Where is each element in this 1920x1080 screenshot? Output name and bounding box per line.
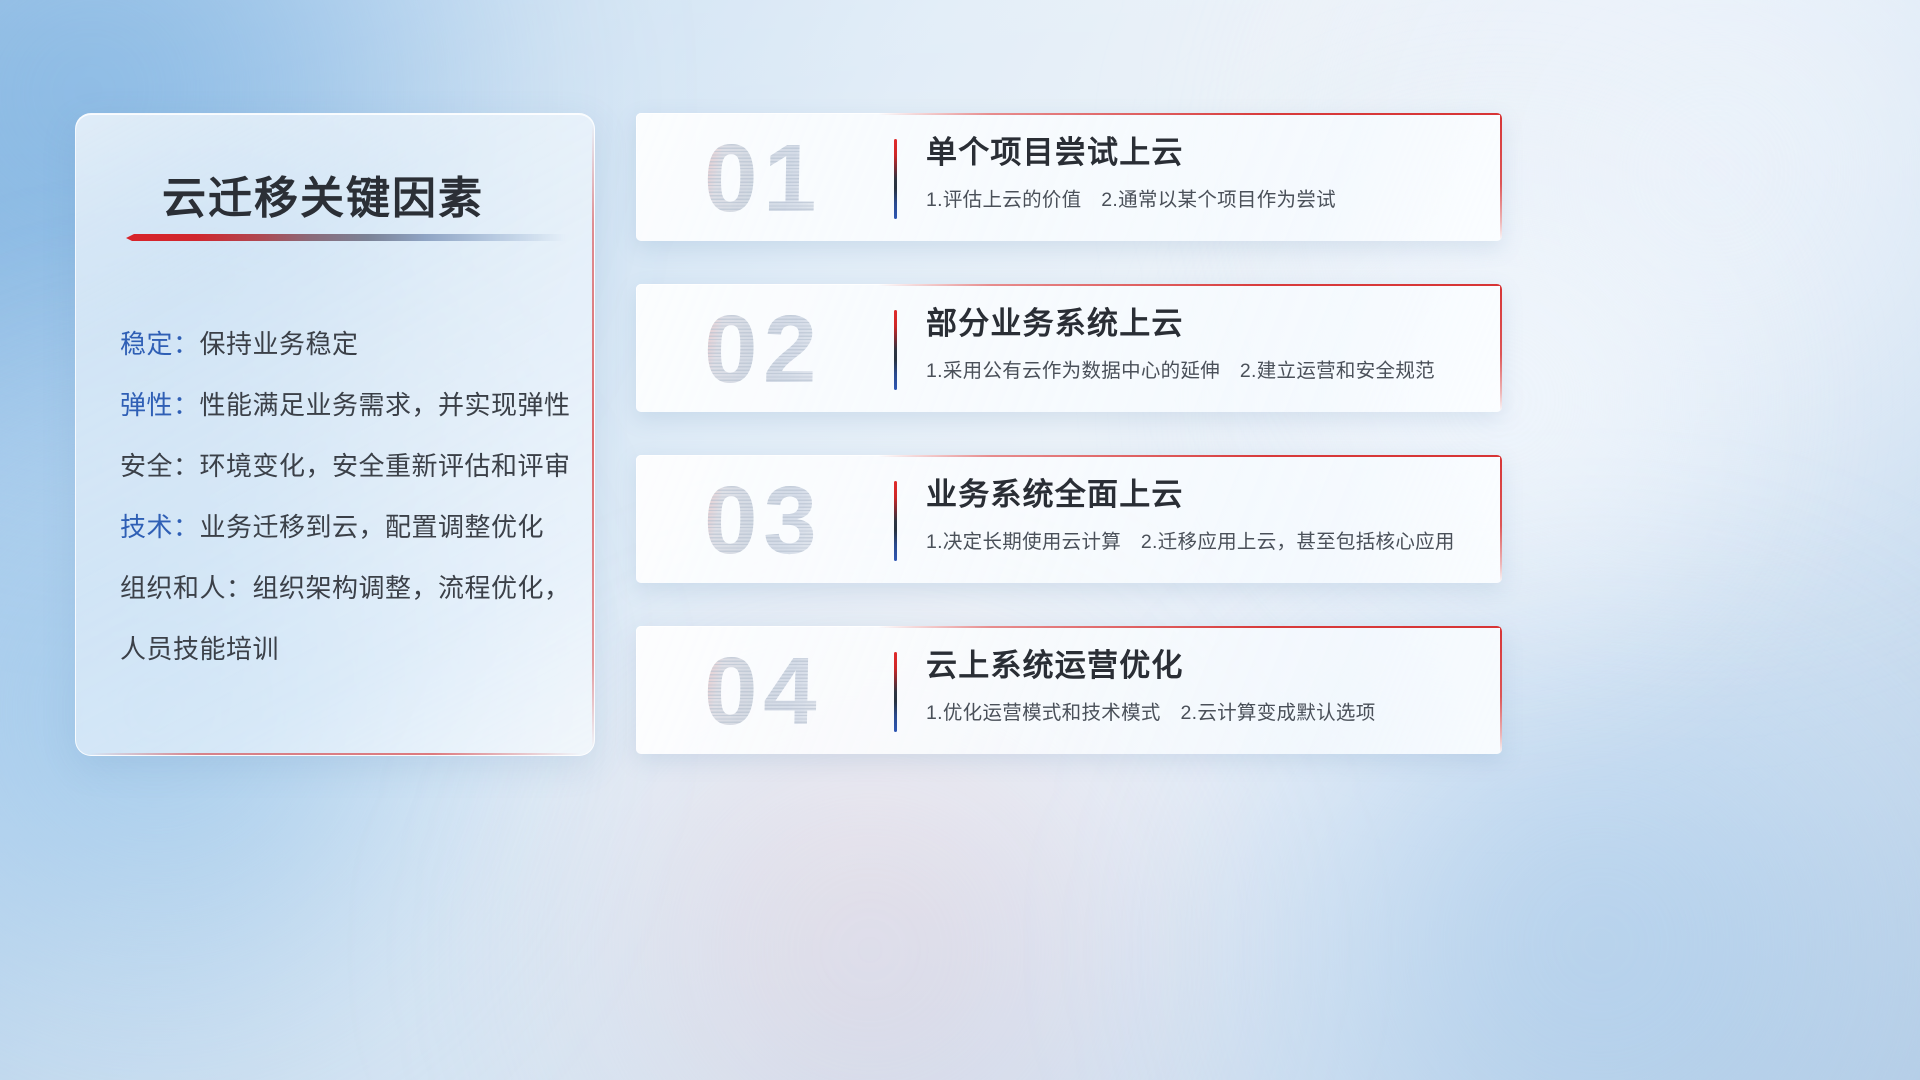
card-accent-bar	[894, 139, 897, 219]
cloud-migration-stages-list: 01单个项目尝试上云1.评估上云的价值 2.通常以某个项目作为尝试02部分业务系…	[636, 113, 1502, 797]
card-description: 1.决定长期使用云计算 2.迁移应用上云，甚至包括核心应用	[926, 525, 1478, 554]
stage-number-text: 01	[703, 131, 823, 227]
key-factor-text: 环境变化，安全重新评估和评审	[200, 451, 571, 481]
key-factor-label: 技术：	[120, 512, 200, 542]
stage-card[interactable]: 02部分业务系统上云1.采用公有云作为数据中心的延伸 2.建立运营和安全规范	[636, 284, 1502, 412]
card-accent-bar	[894, 310, 897, 390]
card-right-accent-line	[1500, 626, 1502, 754]
card-accent-bar	[894, 652, 897, 732]
card-title: 业务系统全面上云	[926, 475, 1478, 515]
key-factor-row: 组织和人：组织架构调整，流程优化，	[120, 558, 572, 619]
key-factor-text: 组织架构调整，流程优化，	[253, 573, 571, 603]
key-factor-row: 人员技能培训	[120, 619, 572, 680]
card-top-accent-line	[878, 284, 1502, 286]
key-factor-row: 稳定：保持业务稳定	[120, 314, 572, 375]
card-body: 业务系统全面上云1.决定长期使用云计算 2.迁移应用上云，甚至包括核心应用	[926, 475, 1478, 554]
card-body: 单个项目尝试上云1.评估上云的价值 2.通常以某个项目作为尝试	[926, 133, 1478, 212]
key-factor-row: 技术：业务迁移到云，配置调整优化	[120, 497, 572, 558]
card-description: 1.评估上云的价值 2.通常以某个项目作为尝试	[926, 183, 1478, 212]
card-left-highlight	[636, 284, 637, 412]
card-description: 1.采用公有云作为数据中心的延伸 2.建立运营和安全规范	[926, 354, 1478, 383]
card-top-accent-line	[878, 113, 1502, 115]
stage-card[interactable]: 01单个项目尝试上云1.评估上云的价值 2.通常以某个项目作为尝试	[636, 113, 1502, 241]
card-right-accent-line	[1500, 284, 1502, 412]
page-title: 云迁移关键因素	[162, 162, 484, 226]
key-factor-row: 弹性：性能满足业务需求，并实现弹性	[120, 375, 572, 436]
card-title: 云上系统运营优化	[926, 646, 1478, 686]
key-factor-text: 人员技能培训	[120, 634, 279, 664]
key-factor-row: 安全：环境变化，安全重新评估和评审	[120, 436, 572, 497]
key-factor-text: 性能满足业务需求，并实现弹性	[200, 390, 571, 420]
stage-number-watermark: 03	[658, 461, 868, 581]
key-factor-label: 安全：	[120, 451, 200, 481]
key-factors-panel: 云迁移关键因素 稳定：保持业务稳定弹性：性能满足业务需求，并实现弹性安全：环境变…	[75, 113, 595, 756]
card-right-accent-line	[1500, 455, 1502, 583]
stage-card[interactable]: 03业务系统全面上云1.决定长期使用云计算 2.迁移应用上云，甚至包括核心应用	[636, 455, 1502, 583]
key-factor-label: 稳定：	[120, 329, 200, 359]
key-factors-list: 稳定：保持业务稳定弹性：性能满足业务需求，并实现弹性安全：环境变化，安全重新评估…	[120, 314, 572, 680]
card-top-accent-line	[878, 626, 1502, 628]
title-underline-accent	[126, 234, 566, 241]
card-title: 部分业务系统上云	[926, 304, 1478, 344]
card-body: 云上系统运营优化1.优化运营模式和技术模式 2.云计算变成默认选项	[926, 646, 1478, 725]
stage-card[interactable]: 04云上系统运营优化1.优化运营模式和技术模式 2.云计算变成默认选项	[636, 626, 1502, 754]
card-accent-bar	[894, 481, 897, 561]
key-factor-label: 组织和人：	[120, 573, 253, 603]
stage-number-text: 03	[703, 473, 823, 569]
card-description: 1.优化运营模式和技术模式 2.云计算变成默认选项	[926, 696, 1478, 725]
stage-number-watermark: 04	[658, 632, 868, 752]
card-body: 部分业务系统上云1.采用公有云作为数据中心的延伸 2.建立运营和安全规范	[926, 304, 1478, 383]
key-factor-text: 业务迁移到云，配置调整优化	[200, 512, 545, 542]
stage-number-watermark: 02	[658, 290, 868, 410]
card-left-highlight	[636, 626, 637, 754]
key-factor-label: 弹性：	[120, 390, 200, 420]
stage-number-text: 04	[703, 644, 823, 740]
key-factor-text: 保持业务稳定	[200, 329, 359, 359]
card-top-accent-line	[878, 455, 1502, 457]
stage-number-text: 02	[703, 302, 823, 398]
card-left-highlight	[636, 455, 637, 583]
card-title: 单个项目尝试上云	[926, 133, 1478, 173]
card-right-accent-line	[1500, 113, 1502, 241]
stage-number-watermark: 01	[658, 119, 868, 239]
card-left-highlight	[636, 113, 637, 241]
